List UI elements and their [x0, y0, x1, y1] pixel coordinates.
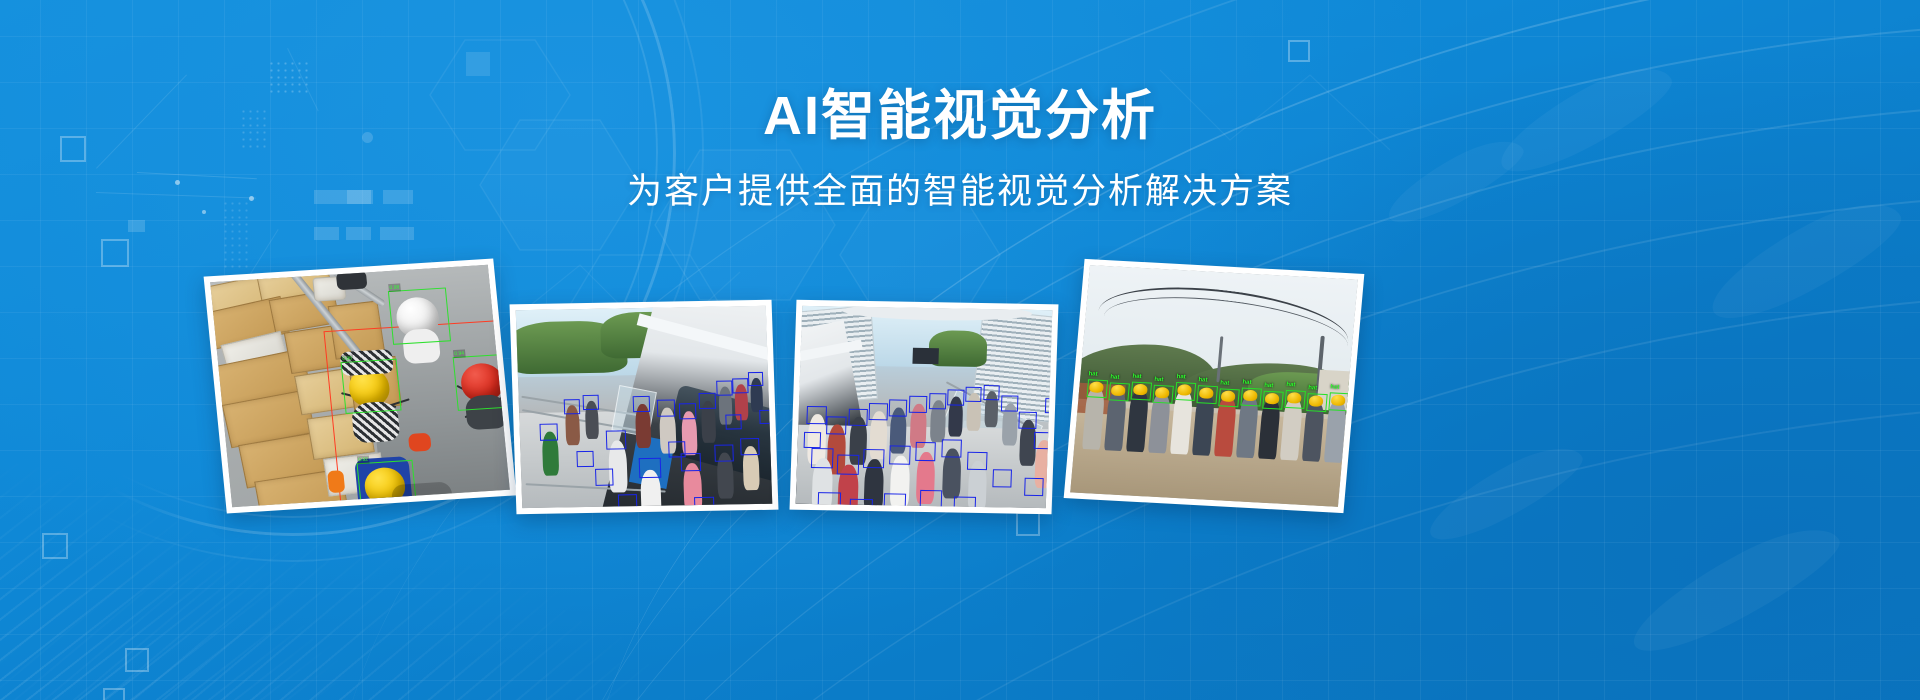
square-filled-5 — [314, 227, 339, 240]
detection-label-hat: hat — [1330, 384, 1340, 391]
face-box — [869, 403, 889, 420]
detection-label-hat: hat — [1264, 383, 1274, 390]
square-filled-1 — [128, 220, 145, 232]
detection-box-hat — [1108, 382, 1130, 401]
face-box — [725, 414, 741, 429]
face-box — [1045, 398, 1052, 413]
face-box — [1024, 478, 1044, 496]
detection-label-hat: hat — [1088, 371, 1098, 378]
gallery-photo-1[interactable]: 0.98 0.96 0.94 — [204, 258, 517, 513]
gallery-photo-2-image — [516, 306, 773, 508]
face-box — [817, 492, 841, 508]
detection-label-4: 0.92 — [357, 456, 369, 465]
square-filled-7 — [380, 227, 414, 240]
face-box — [965, 387, 981, 402]
scene-station-crowd — [796, 306, 1053, 508]
face-box — [1034, 432, 1053, 449]
detection-label-3: 0.94 — [453, 349, 465, 358]
shelf-shadow — [391, 481, 453, 507]
face-box — [583, 395, 599, 410]
detection-box-hat — [1218, 388, 1240, 407]
face-box — [606, 430, 627, 449]
page-title: AI智能视觉分析 — [0, 88, 1920, 145]
detection-box-hat — [1328, 392, 1350, 411]
gallery-photo-2[interactable] — [510, 300, 779, 514]
face-box — [576, 451, 594, 467]
face-box — [947, 389, 965, 405]
face-box — [889, 399, 908, 416]
detection-box-hat — [1175, 382, 1197, 401]
dark-object — [336, 270, 368, 290]
face-box — [929, 393, 947, 409]
face-box — [849, 499, 873, 508]
face-box — [657, 399, 676, 416]
scene-outdoor-group: hat hat hat hat hat — [1070, 265, 1358, 507]
face-box — [759, 410, 772, 424]
detection-label-hat: hat — [1176, 374, 1186, 381]
gallery-photo-1-image: 0.98 0.96 0.94 — [210, 265, 510, 507]
scene-warehouse: 0.98 0.96 0.94 — [210, 265, 510, 507]
face-box — [992, 469, 1012, 487]
face-box — [826, 416, 847, 434]
detection-box-hat — [1262, 391, 1284, 410]
face-box — [1001, 395, 1019, 411]
detection-box-hat — [1087, 379, 1109, 398]
gallery-photo-3[interactable] — [790, 300, 1059, 514]
face-box — [639, 458, 662, 478]
hero-banner: AI智能视觉分析 为客户提供全面的智能视觉分析解决方案 — [0, 0, 1920, 700]
face-box — [618, 494, 638, 508]
detection-box-hat — [1306, 393, 1328, 412]
display-screen — [912, 348, 939, 364]
detection-box-hat — [1196, 385, 1218, 404]
page-subtitle: 为客户提供全面的智能视觉分析解决方案 — [0, 171, 1920, 213]
detection-box-helmet-red: 0.94 — [453, 353, 510, 411]
face-box — [1018, 412, 1037, 429]
face-box — [915, 442, 936, 461]
scene-platform — [516, 306, 773, 508]
face-box — [668, 441, 686, 457]
face-box — [732, 378, 748, 393]
face-box — [889, 445, 911, 464]
face-box — [699, 393, 717, 409]
red-bag — [408, 433, 432, 452]
face-box — [714, 444, 734, 461]
square-outline-5 — [103, 688, 125, 700]
orange-tool — [327, 470, 345, 493]
gallery-photo-4-image: hat hat hat hat hat — [1070, 265, 1358, 507]
face-box — [633, 396, 651, 412]
banner-text-block: AI智能视觉分析 为客户提供全面的智能视觉分析解决方案 — [0, 88, 1920, 213]
face-box — [540, 424, 559, 441]
square-outline-4 — [125, 648, 149, 672]
face-box — [595, 469, 614, 486]
detection-label-hat: hat — [1198, 377, 1208, 384]
detection-label-hat: hat — [1110, 374, 1120, 381]
face-box — [694, 497, 715, 508]
detection-label-1: 0.98 — [388, 283, 400, 292]
detection-label-hat: hat — [1286, 382, 1296, 389]
gallery-photo-3-image — [796, 306, 1053, 508]
face-box — [909, 396, 928, 413]
face-box — [983, 385, 999, 400]
face-box — [804, 432, 822, 448]
detection-box-helmet-yellow: 0.96 — [341, 359, 402, 414]
face-box — [848, 409, 868, 426]
face-box — [883, 493, 906, 508]
square-outline-7 — [1288, 40, 1310, 62]
detection-label-2: 0.96 — [341, 354, 353, 363]
detection-box-hat — [1152, 385, 1174, 404]
detection-box-hat — [1284, 390, 1306, 409]
face-box — [716, 380, 732, 395]
face-box — [920, 490, 943, 508]
face-box — [740, 438, 760, 455]
face-box — [806, 406, 827, 424]
detection-box-hat — [1240, 388, 1262, 407]
face-box — [679, 403, 697, 419]
detection-label-hat: hat — [1242, 380, 1252, 387]
detection-label-hat: hat — [1132, 374, 1142, 381]
detection-label-hat: hat — [1220, 380, 1230, 387]
face-box — [748, 372, 763, 386]
detection-label-hat: hat — [1308, 385, 1318, 392]
face-box — [953, 497, 976, 509]
face-box — [967, 452, 988, 470]
face-box — [863, 449, 885, 468]
face-box — [837, 454, 860, 474]
detection-box-helmet-white: 0.98 — [388, 287, 451, 344]
square-filled-9 — [466, 52, 490, 76]
detection-label-hat: hat — [1154, 377, 1164, 384]
face-box — [564, 399, 580, 414]
photo-gallery: 0.98 0.96 0.94 — [0, 250, 1920, 540]
detection-box-hat — [1131, 382, 1153, 401]
gallery-photo-4[interactable]: hat hat hat hat hat — [1064, 259, 1365, 513]
face-box — [811, 448, 834, 468]
square-filled-6 — [346, 227, 371, 240]
face-box — [941, 439, 962, 457]
